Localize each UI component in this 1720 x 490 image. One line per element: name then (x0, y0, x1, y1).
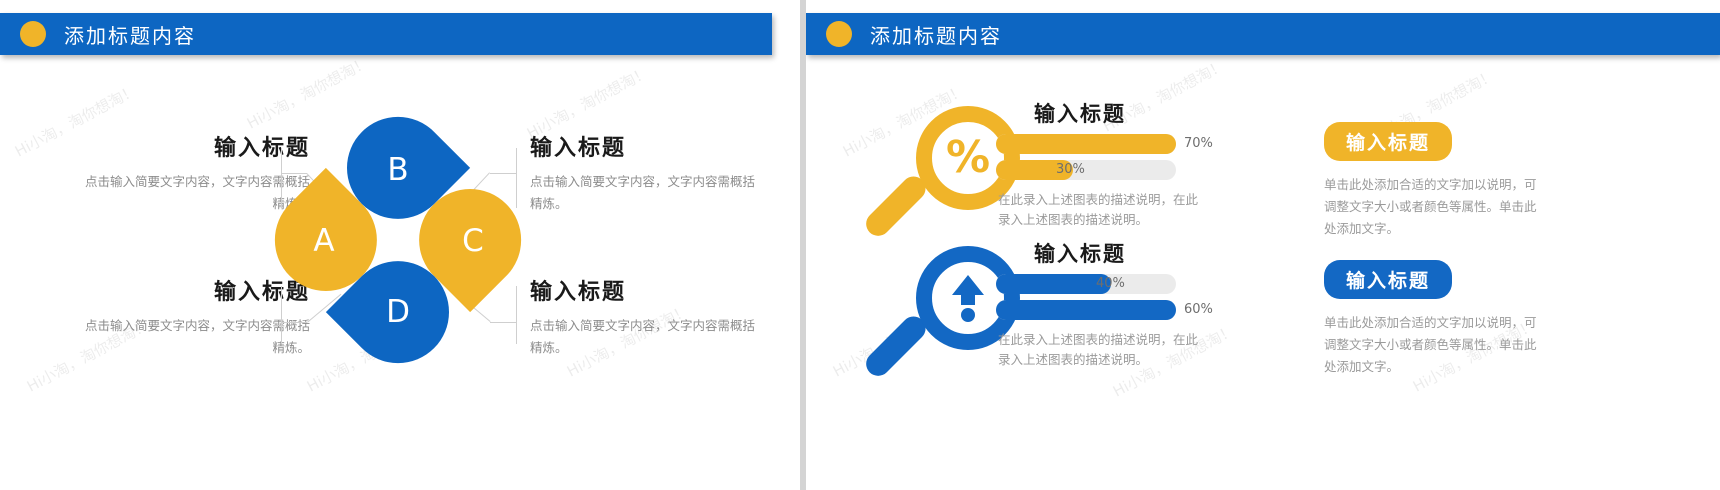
info-card-2: 输入标题 单击此处添加合适的文字加以说明，可调整文字大小或者颜色等属性。单击此处… (1324, 260, 1539, 378)
block-title: 输入标题 (530, 130, 765, 162)
stat-group-1-description: 在此录入上述图表的描述说明，在此录入上述图表的描述说明。 (998, 190, 1198, 230)
stat-group-1: % 输入标题 70% 30% 在此录入上述图表的描述说明，在此录入上述图表的描述… (856, 98, 1276, 248)
bar-fill-2a (996, 274, 1111, 294)
stat-group-1-title: 输入标题 (1034, 98, 1126, 128)
stat-group-2-description: 在此录入上述图表的描述说明，在此录入上述图表的描述说明。 (998, 330, 1198, 370)
text-block-top-right: 输入标题 点击输入简要文字内容，文字内容需概括精炼。 (530, 130, 765, 215)
block-title: 输入标题 (75, 274, 310, 306)
bar-label-2a: 40% (1096, 276, 1125, 291)
header-bar-left: 添加标题内容 (0, 13, 772, 55)
card-body-1: 单击此处添加合适的文字加以说明，可调整文字大小或者颜色等属性。单击此处添加文字。 (1324, 174, 1539, 240)
bar-label-1a: 70% (1184, 136, 1213, 151)
slide-deck: 添加标题内容 Hi小淘，淘你想淘！ Hi小淘，淘你想淘！ Hi小淘，淘你想淘！ … (0, 0, 1720, 490)
header-bar-right: 添加标题内容 (806, 13, 1720, 55)
circle-bullet-icon (826, 21, 852, 47)
petal-label-c: C (453, 223, 493, 259)
petal-label-d: D (378, 294, 418, 330)
block-body: 点击输入简要文字内容，文字内容需概括精炼。 (75, 315, 310, 359)
page-title-right: 添加标题内容 (870, 20, 1002, 49)
block-body: 点击输入简要文字内容，文字内容需概括精炼。 (530, 315, 765, 359)
text-block-bottom-right: 输入标题 点击输入简要文字内容，文字内容需概括精炼。 (530, 274, 765, 359)
bar-fill-2b (996, 300, 1176, 320)
bar-track-1a (996, 134, 1176, 154)
arrow-up-icon (948, 271, 988, 325)
bar-track-2a (996, 274, 1176, 294)
bar-track-1b (996, 160, 1176, 180)
block-title: 输入标题 (530, 274, 765, 306)
stat-group-2: 输入标题 40% 60% 在此录入上述图表的描述说明，在此录入上述图表的描述说明… (856, 238, 1276, 388)
flower-diagram: A B C D (278, 136, 518, 344)
slide-right: 添加标题内容 Hi小淘，淘你想淘！ Hi小淘，淘你想淘！ Hi小淘，淘你想淘！ … (806, 0, 1720, 490)
text-block-top-left: 输入标题 点击输入简要文字内容，文字内容需概括精炼。 (75, 130, 310, 215)
card-body-2: 单击此处添加合适的文字加以说明，可调整文字大小或者颜色等属性。单击此处添加文字。 (1324, 312, 1539, 378)
block-body: 点击输入简要文字内容，文字内容需概括精炼。 (75, 171, 310, 215)
petal-label-a: A (304, 223, 344, 259)
petal-label-b: B (378, 152, 418, 188)
circle-bullet-icon (20, 21, 46, 47)
watermark: Hi小淘，淘你想淘！ (243, 51, 372, 133)
info-card-1: 输入标题 单击此处添加合适的文字加以说明，可调整文字大小或者颜色等属性。单击此处… (1324, 122, 1539, 240)
block-body: 点击输入简要文字内容，文字内容需概括精炼。 (530, 171, 765, 215)
stat-group-2-title: 输入标题 (1034, 238, 1126, 268)
card-badge-1[interactable]: 输入标题 (1324, 122, 1452, 161)
bar-label-1b: 30% (1056, 162, 1085, 177)
percent-symbol: % (946, 136, 990, 180)
card-badge-2[interactable]: 输入标题 (1324, 260, 1452, 299)
page-title-left: 添加标题内容 (64, 20, 196, 49)
block-title: 输入标题 (75, 130, 310, 162)
bar-track-2b (996, 300, 1176, 320)
bar-fill-1a (996, 134, 1176, 154)
slide-left: 添加标题内容 Hi小淘，淘你想淘！ Hi小淘，淘你想淘！ Hi小淘，淘你想淘！ … (0, 0, 800, 490)
text-block-bottom-left: 输入标题 点击输入简要文字内容，文字内容需概括精炼。 (75, 274, 310, 359)
bar-label-2b: 60% (1184, 302, 1213, 317)
